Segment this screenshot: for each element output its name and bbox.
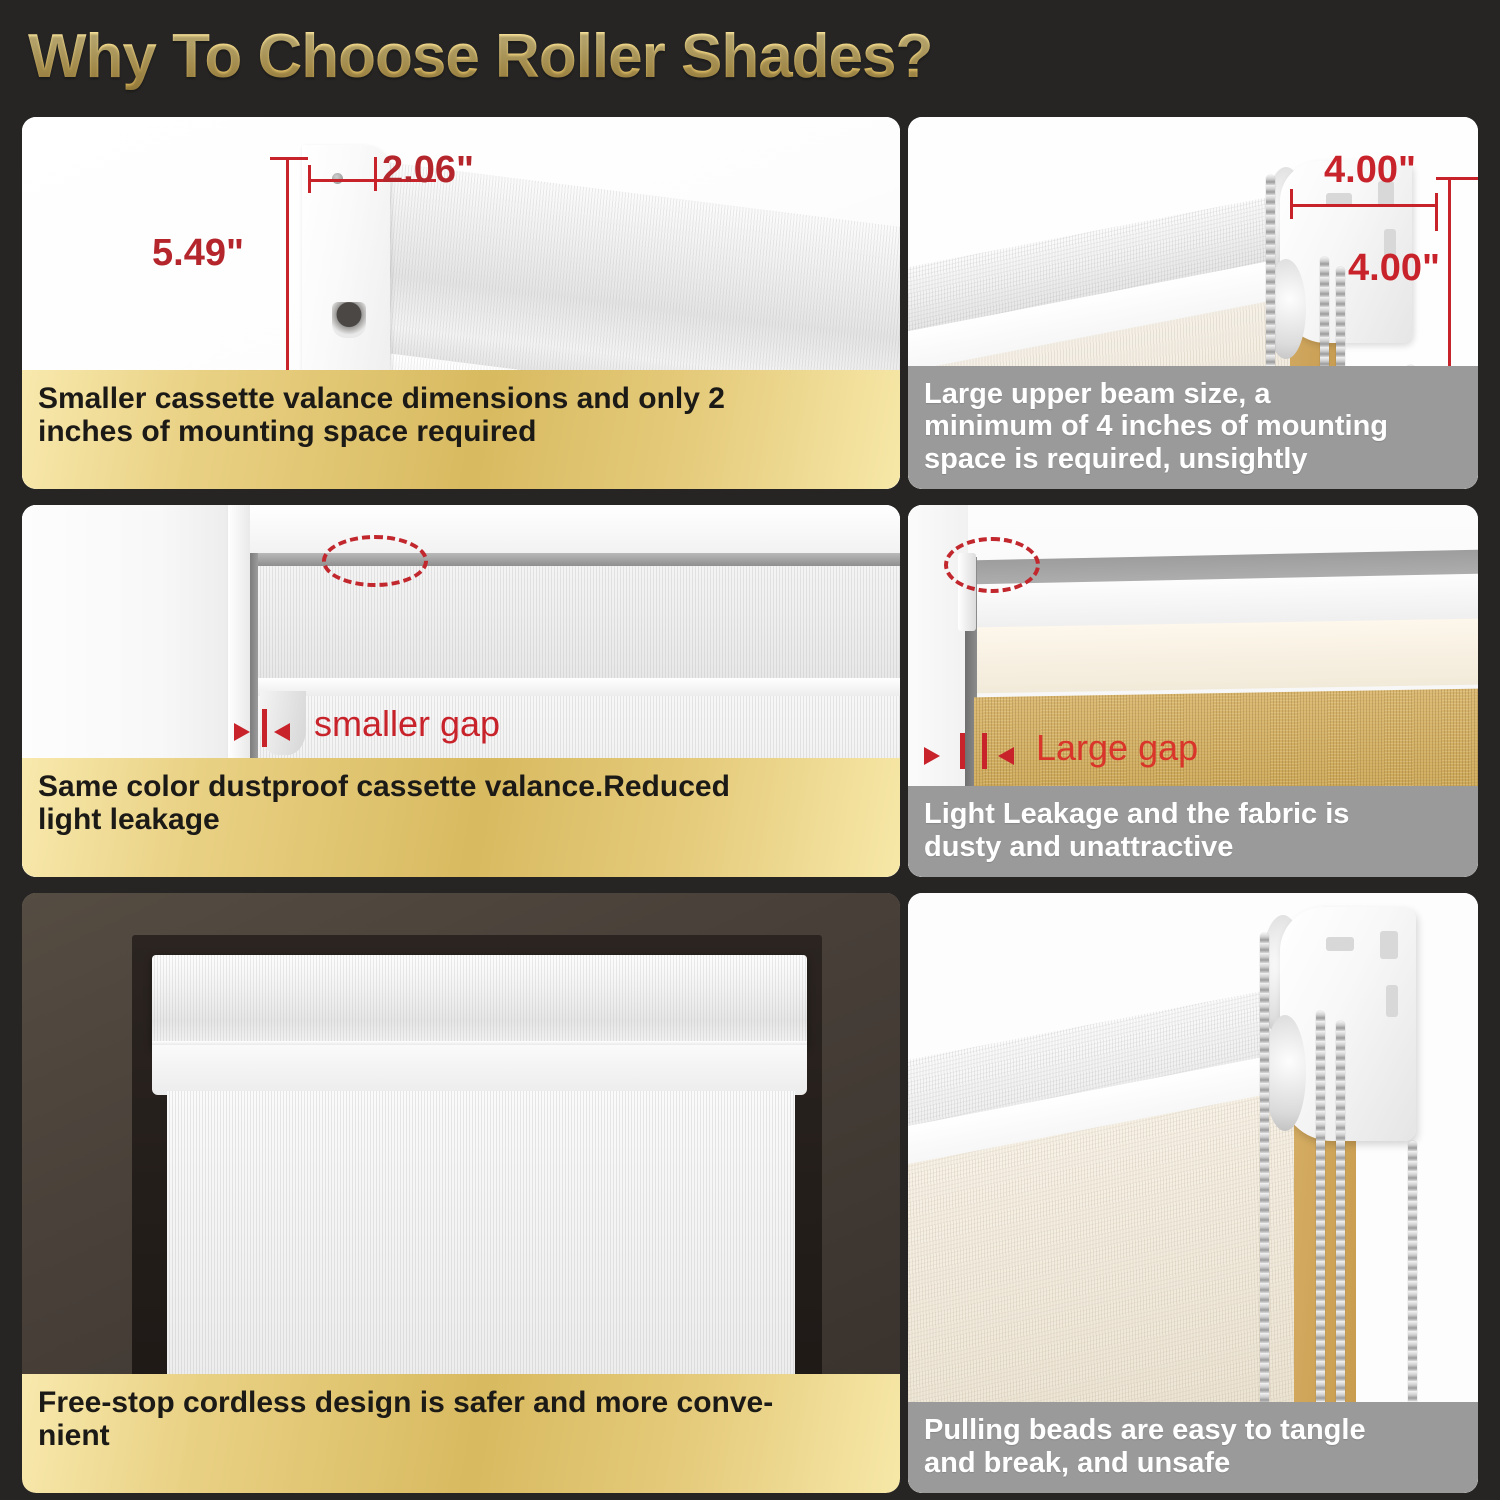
caption-line-2: and break, and unsafe — [924, 1447, 1462, 1479]
endcap-upper-slot-icon — [332, 302, 366, 338]
roller-end-cap-lower-shape — [1264, 1015, 1306, 1131]
bracket-notch-icon — [1326, 937, 1354, 951]
cassette-mid-divider — [258, 678, 900, 696]
page-title: Why To Choose Roller Shades? — [28, 21, 932, 92]
caption-line-1: Light Leakage and the fabric is — [924, 798, 1462, 830]
caption-line-2: minimum of 4 inches of mounting — [924, 410, 1462, 442]
panel-caption-bad: Pulling beads are easy to tangle and bre… — [908, 1402, 1478, 1493]
panel-free-stop-cordless-design: Free-stop cordless design is safer and m… — [22, 893, 900, 1493]
beam-height-tick-top — [1436, 177, 1478, 180]
panel-pulling-beads-tangle: Pulling beads are easy to tangle and bre… — [908, 893, 1478, 1493]
panel-light-leakage-dusty-fabric: Large gap Light Leakage and the fabric i… — [908, 505, 1478, 877]
height-dimension-tick-top — [270, 157, 308, 160]
panel-caption-bad: Large upper beam size, a minimum of 4 in… — [908, 366, 1478, 489]
gap-marker-tick — [982, 733, 987, 769]
panel-caption-good: Smaller cassette valance dimensions and … — [22, 370, 900, 489]
highlight-ellipse — [322, 535, 428, 587]
bracket-notch-icon — [1380, 931, 1398, 959]
cassette-roll-shape — [152, 1045, 807, 1095]
beam-height-dimension-line — [1448, 177, 1451, 377]
beam-width-dimension-label: 4.00" — [1324, 149, 1416, 192]
caption-line-1: Same color dustproof cassette valance.Re… — [38, 770, 884, 804]
gap-arrow-right-icon — [924, 747, 940, 765]
height-dimension-label: 5.49" — [152, 232, 244, 275]
beam-width-tick-left — [1290, 189, 1293, 219]
gap-marker-tick — [960, 733, 965, 769]
smaller-gap-label: smaller gap — [314, 703, 500, 745]
caption-line-1: Smaller cassette valance dimensions and … — [38, 382, 884, 416]
caption-line-2: inches of mounting space required — [38, 415, 884, 449]
panel-caption-good: Same color dustproof cassette valance.Re… — [22, 758, 900, 877]
width-dimension-label: 2.06" — [382, 149, 474, 192]
beam-width-dimension-line — [1290, 204, 1438, 207]
large-gap-label: Large gap — [1036, 727, 1198, 769]
highlight-ellipse — [944, 537, 1040, 593]
beam-height-dimension-label: 4.00" — [1348, 247, 1440, 290]
gap-arrow-left-icon — [998, 747, 1014, 765]
panel-dustproof-cassette-valance: smaller gap Same color dustproof cassett… — [22, 505, 900, 877]
cassette-valance — [152, 955, 807, 1047]
caption-line-1: Free-stop cordless design is safer and m… — [38, 1386, 884, 1420]
caption-line-2: light leakage — [38, 803, 884, 837]
gap-arrow-right-icon — [234, 723, 250, 741]
caption-line-1: Pulling beads are easy to tangle — [924, 1414, 1462, 1446]
panel-caption-good: Free-stop cordless design is safer and m… — [22, 1374, 900, 1493]
bracket-notch-icon — [1386, 985, 1398, 1017]
comparison-grid: 2.06" 5.49" Smaller cassette valance dim… — [0, 113, 1500, 1500]
panel-caption-bad: Light Leakage and the fabric is dusty an… — [908, 786, 1478, 877]
width-dimension-tick-right — [374, 157, 377, 191]
caption-line-3: space is required, unsightly — [924, 443, 1462, 475]
cream-valance-shape — [974, 619, 1478, 694]
caption-line-2: nient — [38, 1419, 884, 1453]
panel-cassette-valance-dimensions: 2.06" 5.49" Smaller cassette valance dim… — [22, 117, 900, 489]
beam-width-tick-right — [1435, 193, 1438, 231]
width-dimension-tick-left — [308, 165, 311, 193]
page-header: Why To Choose Roller Shades? — [0, 0, 1500, 113]
gap-marker-tick — [262, 709, 267, 747]
caption-line-1: Large upper beam size, a — [924, 378, 1462, 410]
panel-large-upper-beam: 4.00" 4.00" Large upper beam size, a min… — [908, 117, 1478, 489]
caption-line-2: dusty and unattractive — [924, 831, 1462, 863]
gap-arrow-left-icon — [274, 723, 290, 741]
